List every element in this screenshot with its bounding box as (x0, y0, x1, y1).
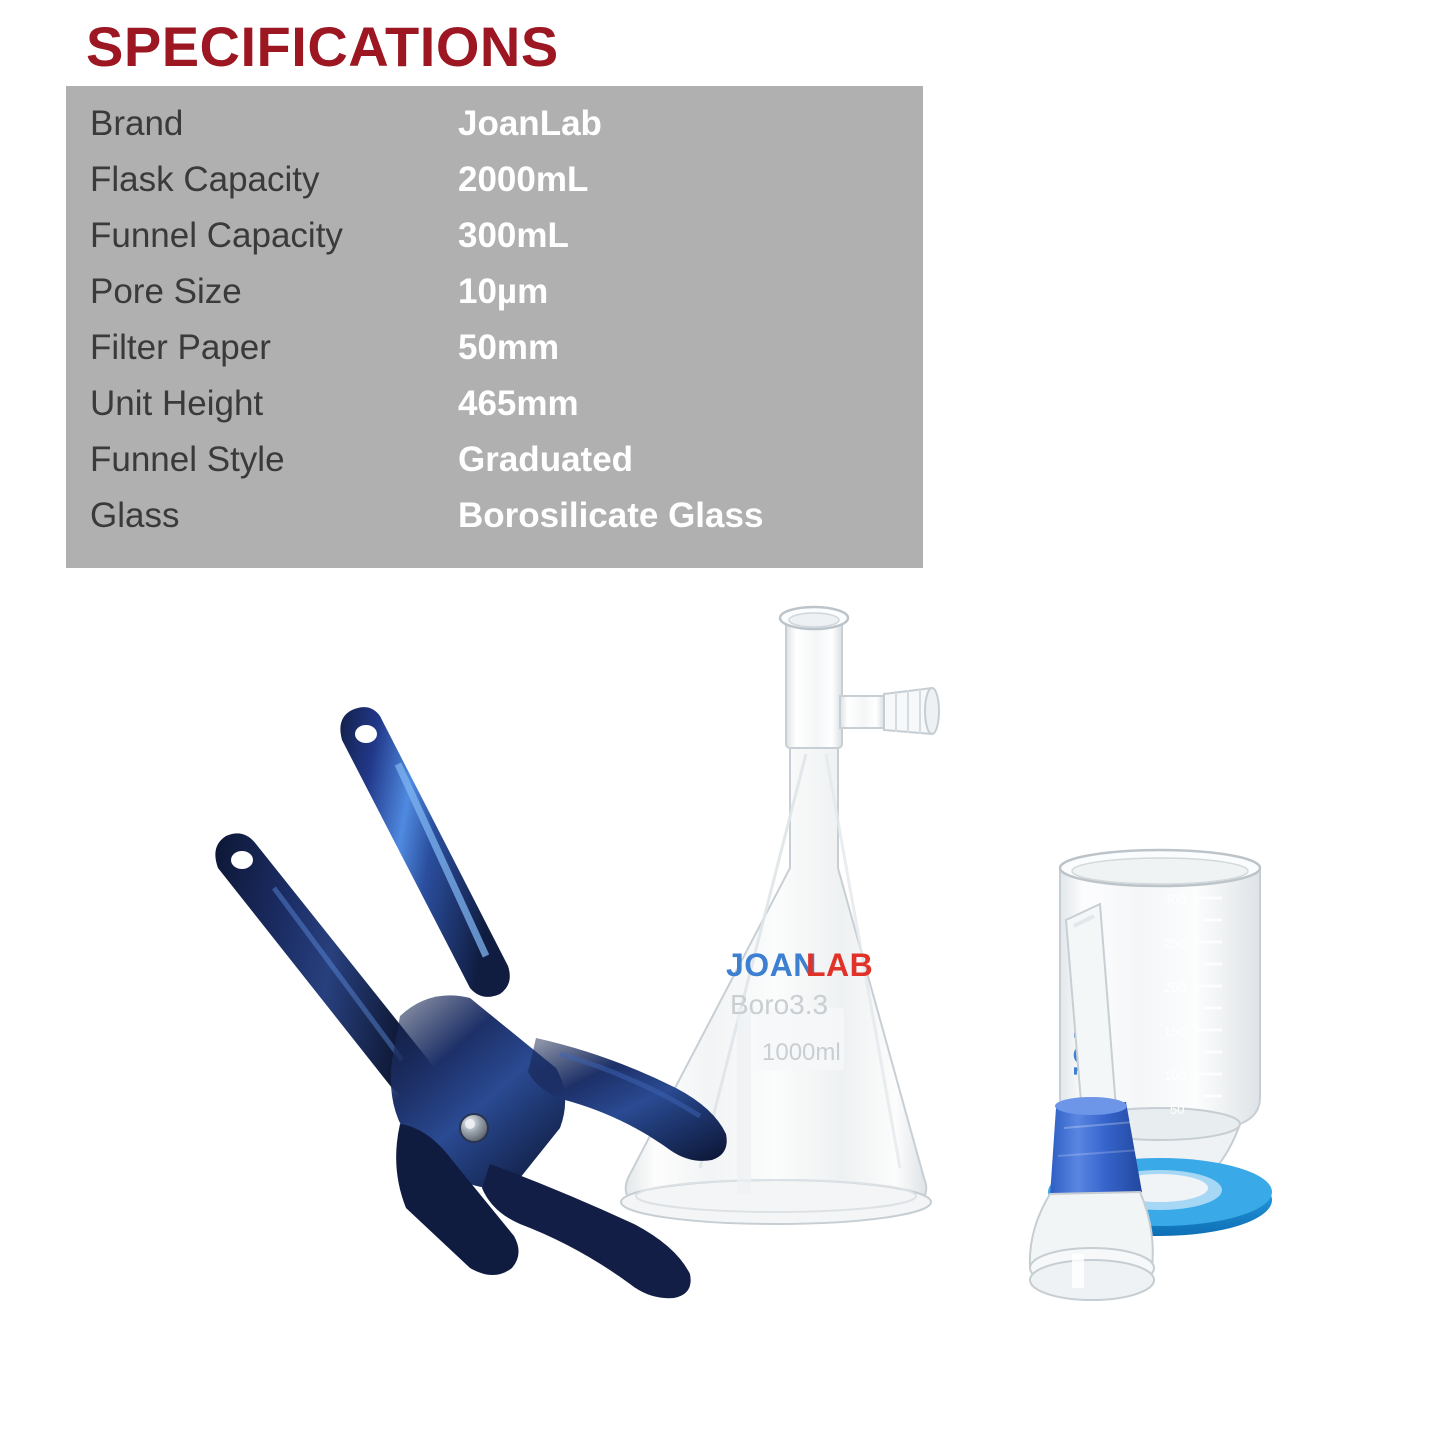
svg-text:LAB: LAB (806, 947, 873, 983)
spec-label: Glass (90, 496, 458, 536)
table-row: Funnel Capacity 300mL (90, 216, 923, 272)
flask-brand-logo: JOAN LAB (726, 947, 873, 983)
table-row: Funnel Style Graduated (90, 440, 923, 496)
table-row: Pore Size 10µm (90, 272, 923, 328)
table-row: Unit Height 465mm (90, 384, 923, 440)
specifications-table: Brand JoanLab Flask Capacity 2000mL Funn… (90, 104, 923, 552)
funnel-rim-inner (1072, 858, 1248, 884)
spec-label: Filter Paper (90, 328, 458, 368)
table-row: Brand JoanLab (90, 104, 923, 160)
spec-label: Unit Height (90, 384, 458, 424)
spec-value: JoanLab (458, 104, 602, 144)
product-photo: JOAN LAB Boro3.3 1000ml (0, 568, 1445, 1445)
svg-text:300: 300 (1164, 892, 1186, 907)
flask-neck (786, 616, 842, 748)
stopper-top (1055, 1097, 1127, 1115)
flask-volume-label: 1000ml (762, 1039, 841, 1066)
spec-value: 10µm (458, 272, 548, 312)
spec-value: Borosilicate Glass (458, 496, 763, 536)
svg-text:100: 100 (1164, 1068, 1186, 1083)
flask-side-arm (840, 696, 884, 728)
svg-text:JOAN: JOAN (726, 947, 817, 983)
spec-value: Graduated (458, 440, 633, 480)
svg-text:250: 250 (1164, 936, 1186, 951)
clamp-pivot-rivet-highlight (465, 1119, 475, 1129)
spec-label: Pore Size (90, 272, 458, 312)
clamp-pivot-rivet (460, 1114, 488, 1142)
spec-value: 465mm (458, 384, 579, 424)
spec-label: Brand (90, 104, 458, 144)
clamp-handle-rear-hole (355, 725, 377, 743)
table-row: Flask Capacity 2000mL (90, 160, 923, 216)
svg-text:200: 200 (1164, 980, 1186, 995)
spec-value: 50mm (458, 328, 559, 368)
table-row: Glass Borosilicate Glass (90, 496, 923, 552)
hose-barb-tip (925, 688, 939, 734)
fritted-foot-highlight (1072, 1254, 1084, 1288)
flask-rim-inner (789, 613, 839, 627)
table-row: Filter Paper 50mm (90, 328, 923, 384)
page-title: SPECIFICATIONS (86, 18, 559, 77)
specifications-panel: Brand JoanLab Flask Capacity 2000mL Funn… (66, 86, 923, 568)
svg-text:150: 150 (1164, 1024, 1186, 1039)
spec-label: Funnel Capacity (90, 216, 458, 256)
product-specification-page: SPECIFICATIONS Brand JoanLab Flask Capac… (0, 0, 1445, 1445)
clamp-handle-front-hole (231, 851, 253, 869)
fritted-foot-base (1030, 1260, 1154, 1300)
spec-label: Flask Capacity (90, 160, 458, 200)
spec-label: Funnel Style (90, 440, 458, 480)
flask-glass-grade: Boro3.3 (730, 989, 828, 1020)
spec-value: 2000mL (458, 160, 588, 200)
svg-text:50: 50 (1170, 1102, 1184, 1117)
spec-value: 300mL (458, 216, 569, 256)
